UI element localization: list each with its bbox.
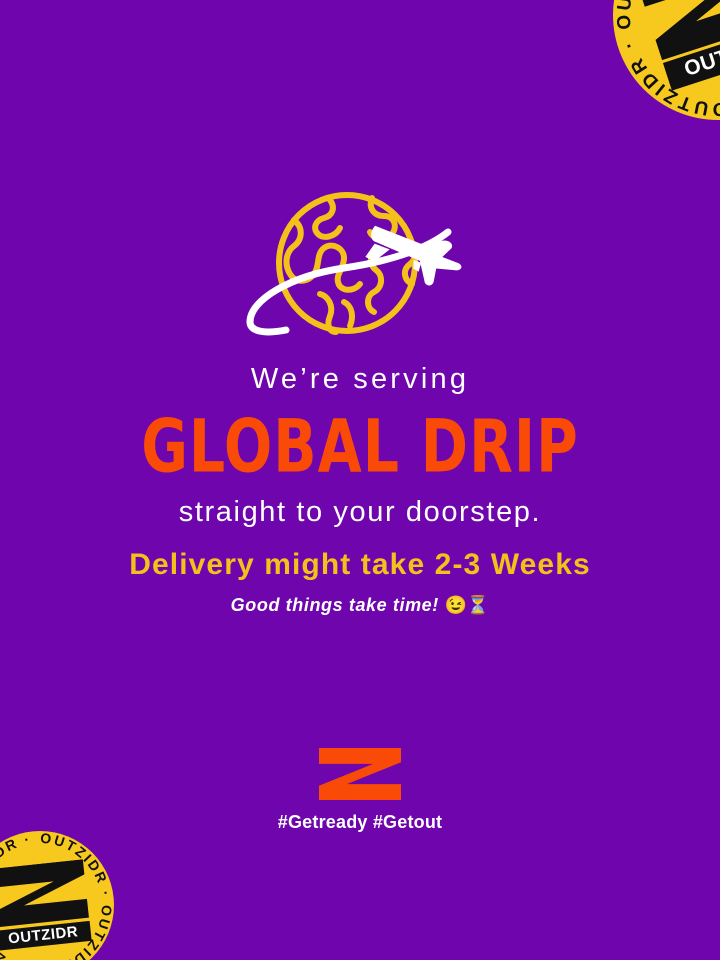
globe-airplane-svg bbox=[232, 182, 488, 342]
delivery-tagline: Good things take time! 😉⏳ bbox=[0, 595, 720, 617]
delivery-info-block: Delivery might take 2-3 Weeks Good thing… bbox=[0, 548, 720, 616]
poster-canvas: OUTZIDR · OUTZIDR · OUTZIDR · OUTZIDR · … bbox=[0, 0, 720, 960]
globe-airplane-illustration bbox=[232, 182, 488, 342]
footer-hashtags: #Getready #Getout bbox=[278, 812, 442, 833]
z-logo-icon bbox=[319, 748, 401, 800]
page-title: GLOBAL DRIP bbox=[0, 408, 720, 485]
badge-core-top-right: OUTZIDR bbox=[636, 0, 720, 90]
brand-badge-bottom-left: OUTZIDR · OUTZIDR · OUTZIDR · OUTZIDR · … bbox=[0, 831, 114, 960]
headline-subtitle: straight to your doorstep. bbox=[0, 497, 720, 529]
z-mark-icon bbox=[0, 859, 89, 927]
wink-hourglass-emoji: 😉⏳ bbox=[445, 595, 490, 615]
badge-core-bottom-left: OUTZIDR bbox=[0, 859, 91, 950]
headline-kicker: We’re serving bbox=[0, 364, 720, 396]
brand-badge-top-right: OUTZIDR · OUTZIDR · OUTZIDR · OUTZIDR · … bbox=[613, 0, 720, 120]
delivery-tagline-text: Good things take time! bbox=[231, 595, 439, 615]
footer-block: #Getready #Getout bbox=[0, 748, 720, 833]
globe-icon bbox=[279, 195, 415, 332]
delivery-estimate: Delivery might take 2-3 Weeks bbox=[0, 548, 720, 583]
headline-block: We’re serving GLOBAL DRIP straight to yo… bbox=[0, 364, 720, 529]
